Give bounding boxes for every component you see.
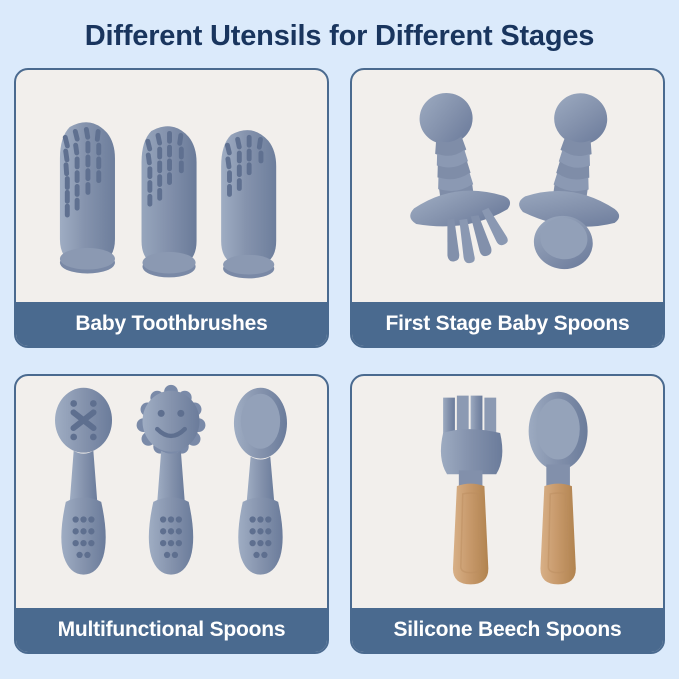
card-baby-toothbrushes[interactable]: Baby Toothbrushes	[14, 68, 329, 348]
card-label-baby-toothbrushes: Baby Toothbrushes	[16, 302, 327, 346]
card-multifunctional-spoons[interactable]: Multifunctional Spoons	[14, 374, 329, 654]
card-silicone-beech-spoons[interactable]: Silicone Beech Spoons	[350, 374, 665, 654]
card-label-silicone-beech-spoons: Silicone Beech Spoons	[352, 608, 663, 652]
multifunctional-spoons-illustration	[16, 376, 327, 608]
baby-toothbrush-illustration	[16, 70, 327, 302]
card-label-first-stage-baby-spoons: First Stage Baby Spoons	[352, 302, 663, 346]
silicone-beech-spoons-illustration	[352, 376, 663, 608]
page-title: Different Utensils for Different Stages	[0, 20, 679, 53]
product-card-grid: Baby Toothbrushes	[14, 68, 665, 654]
card-first-stage-baby-spoons[interactable]: First Stage Baby Spoons	[350, 68, 665, 348]
infographic-page: Different Utensils for Different Stages	[0, 0, 679, 679]
card-label-multifunctional-spoons: Multifunctional Spoons	[16, 608, 327, 652]
first-stage-spoons-illustration	[352, 70, 663, 302]
